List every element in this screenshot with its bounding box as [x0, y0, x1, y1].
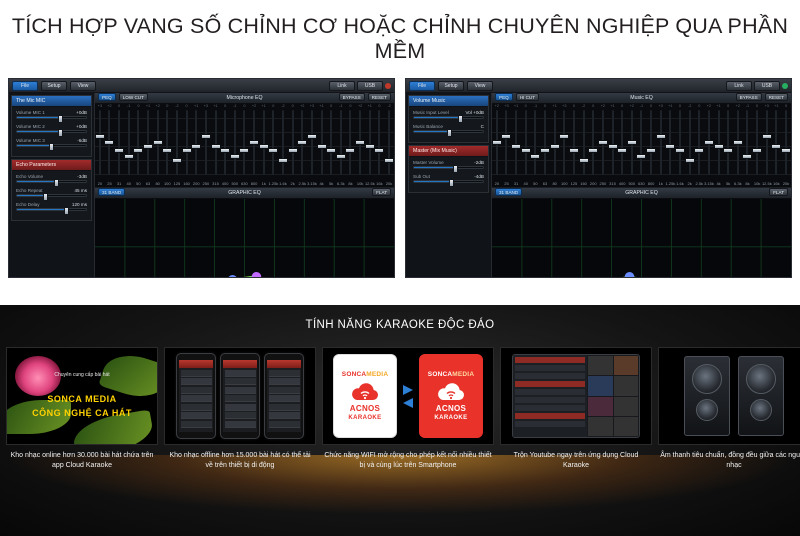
- eq-fader-freq: 1.6k: [278, 181, 288, 186]
- karaoke-feature-banner: TÍNH NĂNG KARAOKE ĐỘC ĐÁO Chuyên cung cấ…: [0, 305, 800, 536]
- section-music-title: Volume Music: [409, 96, 488, 107]
- section-mic: The Mic MIC Volume MIC 1 +0dB: [11, 95, 92, 157]
- eq-fader: +3250: [201, 104, 211, 187]
- toolbar-status-group: Link USB: [329, 81, 391, 91]
- eq-fader: -16.3k: [336, 104, 346, 187]
- transfer-arrows: [403, 385, 413, 408]
- eq-fader-freq: 80: [153, 181, 163, 186]
- eq-fader-freq: 5k: [326, 181, 336, 186]
- slider-mic-1[interactable]: Volume MIC 1 +0dB: [16, 110, 87, 119]
- eq-fader-freq: 1k: [656, 181, 666, 186]
- slider-echo-repeat-label: Echo Repeat: [16, 188, 43, 193]
- brand-songa-media: SONCAMEDIA: [342, 371, 388, 378]
- page-root: TÍCH HỢP VANG SỐ CHỈNH CƠ HOẶC CHỈNH CHU…: [0, 0, 800, 536]
- eq-fader: 05k: [326, 104, 336, 187]
- section-echo-title: Echo Parameters: [12, 160, 91, 171]
- brand-karaoke: KARAOKE: [434, 415, 467, 421]
- slider-master-volume-track[interactable]: [413, 166, 484, 169]
- mixer-window-right[interactable]: File Setup View Link USB Volume Music: [405, 78, 792, 278]
- eq-fader-gain: 0: [346, 104, 356, 108]
- eq-fader: 050: [134, 104, 144, 187]
- eq-fader: +225: [105, 104, 115, 187]
- eq-fader: +2800: [249, 104, 259, 187]
- eq-fader: -140: [124, 104, 134, 187]
- eq-fader: +116k: [772, 104, 782, 187]
- eq-fader-gain: 0: [375, 104, 385, 108]
- slider-mic-2-track[interactable]: [16, 130, 87, 133]
- eq-fader: +31k: [656, 104, 666, 187]
- eq-fader-gain: +3: [201, 104, 211, 108]
- eq-fader: 0400: [617, 104, 627, 187]
- eq-fader: +220: [492, 104, 502, 187]
- eq-fader-freq: 315: [211, 181, 221, 186]
- mixer-window-left[interactable]: File Setup View Link USB The Mic MIC: [8, 78, 395, 278]
- eq-fader-freq: 315: [608, 181, 618, 186]
- eq-fader: +3100: [559, 104, 569, 187]
- eq-fader-gain: 0: [781, 104, 791, 108]
- eq-fader: +2500: [627, 104, 637, 187]
- eq-fader-gain: 0: [240, 104, 250, 108]
- eq-fader-bank-right[interactable]: +220 +325 +131 040 -150 063 +180 +3100 0…: [492, 104, 791, 187]
- eq-response-curve-left[interactable]: [95, 199, 394, 278]
- arrow-right-icon: [403, 385, 413, 395]
- feature-card-caption: Kho nhạc offline hơn 15.000 bài hát có t…: [164, 451, 316, 471]
- eq-fader-freq: 12.5k: [365, 181, 375, 186]
- slider-mic-2[interactable]: Volume MIC 2 +0dB: [16, 124, 87, 133]
- eq-fader-gain: -1: [531, 104, 541, 108]
- slider-master-volume[interactable]: Master Volume -2dB: [413, 160, 484, 169]
- eq-fader: +280: [153, 104, 163, 187]
- band-header-title: GRAPHIC EQ: [492, 188, 791, 199]
- eq-fader: -1500: [230, 104, 240, 187]
- wifi-cloud-icon: [350, 380, 380, 402]
- eq-fader-gain: +2: [492, 104, 502, 108]
- eq-fader-freq: 20: [95, 181, 105, 186]
- slider-echo-volume-track[interactable]: [16, 180, 87, 183]
- eq-fader-gain: -1: [743, 104, 753, 108]
- eq-fader: -2160: [579, 104, 589, 187]
- eq-fader: 0100: [162, 104, 172, 187]
- eq-fader: 040: [521, 104, 531, 187]
- phone-device: [176, 353, 216, 439]
- eq-fader: 0200: [588, 104, 598, 187]
- eq-fader-gain: +3: [762, 104, 772, 108]
- eq-fader-freq: 6.3k: [336, 181, 346, 186]
- eq-fader: +23.15k: [704, 104, 714, 187]
- eq-fader: -220k: [384, 104, 394, 187]
- menu-view-button[interactable]: View: [70, 81, 96, 91]
- slider-mic-3-track[interactable]: [16, 144, 87, 147]
- eq-fader: +325: [502, 104, 512, 187]
- eq-fader-gain: +1: [714, 104, 724, 108]
- app-tile-white: SONCAMEDIA ACNOS KARAOKE: [333, 354, 397, 438]
- feature-card-caption: Trộn Youtube ngay trên ứng dụng Cloud Ka…: [500, 451, 652, 471]
- slider-echo-delay-value: 120 ms: [72, 202, 87, 207]
- feature-card-caption: Âm thanh tiêu chuẩn, đồng đều giữa các n…: [658, 451, 800, 471]
- eq-fader-gain: +2: [355, 104, 365, 108]
- eq-fader: -2125: [172, 104, 182, 187]
- menu-view-button[interactable]: View: [467, 81, 493, 91]
- section-echo: Echo Parameters Echo Volume -3dB: [11, 159, 92, 221]
- eq-fader-gain: 0: [220, 104, 230, 108]
- eq-fader-freq: 200: [588, 181, 598, 186]
- eq-fader-gain: -1: [124, 104, 134, 108]
- eq-fader-freq: 63: [540, 181, 550, 186]
- menu-setup-button[interactable]: Setup: [438, 81, 464, 91]
- chip-bypass[interactable]: BYPASS: [339, 93, 365, 101]
- eq-fader-freq: 500: [627, 181, 637, 186]
- section-music-body: Music Input Level Vol +0dB Music Balance…: [409, 107, 488, 142]
- eq-fader-freq: 2.5k: [297, 181, 307, 186]
- slider-sub-out-label: Sub Out: [413, 174, 430, 179]
- eq-fader-freq: 20k: [781, 181, 791, 186]
- menu-file-button[interactable]: File: [409, 81, 435, 91]
- eq-fader-gain: +1: [550, 104, 560, 108]
- slider-music-input-track[interactable]: [413, 116, 484, 119]
- eq-fader-gain: 0: [569, 104, 579, 108]
- slider-mic-1-track[interactable]: [16, 116, 87, 119]
- eq-fader-freq: 160: [579, 181, 589, 186]
- eq-fader-gain: 0: [588, 104, 598, 108]
- chip-reset[interactable]: RESET: [368, 93, 391, 101]
- eq-fader: +163: [143, 104, 153, 187]
- chip-bypass[interactable]: BYPASS: [736, 93, 762, 101]
- feature-card-online-library: Chuyên cung cấp bài hát SONCA MEDIA CÔNG…: [6, 347, 158, 471]
- eq-fader-freq: 1k: [259, 181, 269, 186]
- eq-fader-freq: 31: [511, 181, 521, 186]
- section-master-title: Master (Mix Music): [409, 146, 488, 157]
- eq-fader-freq: 5k: [723, 181, 733, 186]
- eq-fader-freq: 50: [134, 181, 144, 186]
- eq-fader: +210k: [355, 104, 365, 187]
- section-mic-title: The Mic MIC: [12, 96, 91, 107]
- slider-echo-delay-track[interactable]: [16, 208, 87, 211]
- eq-fader-freq: 16k: [375, 181, 385, 186]
- eq-fader-freq: 160: [182, 181, 192, 186]
- eq-fader-freq: 250: [201, 181, 211, 186]
- speaker-left-icon: [684, 356, 730, 436]
- slider-sub-out-track[interactable]: [413, 180, 484, 183]
- eq-fader-gain: +3: [95, 104, 105, 108]
- section-echo-body: Echo Volume -3dB Echo Repeat 45 ms: [12, 171, 91, 220]
- slider-master-volume-label: Master Volume: [413, 160, 444, 165]
- slider-music-balance-track[interactable]: [413, 130, 484, 133]
- eq-fader-freq: 125: [172, 181, 182, 186]
- eq-fader: 0125: [569, 104, 579, 187]
- poster-line-1: SONCA MEDIA: [7, 394, 157, 404]
- eq-fader-freq: 10k: [355, 181, 365, 186]
- eq-fader-gain: 0: [114, 104, 124, 108]
- menu-file-button[interactable]: File: [12, 81, 38, 91]
- slider-mic-1-label: Volume MIC 1: [16, 110, 45, 115]
- eq-fader-freq: 25: [105, 181, 115, 186]
- eq-fader-freq: 20k: [384, 181, 394, 186]
- eq-fader-freq: 250: [598, 181, 608, 186]
- eq-fader-bank-left[interactable]: +320 +225 031 -140 050 +163 +280 0100 -2…: [95, 104, 394, 187]
- three-phones-art: [164, 347, 316, 445]
- eq-fader: 02k: [288, 104, 298, 187]
- eq-fader-freq: 1.25k: [666, 181, 676, 186]
- eq-fader: 016k: [375, 104, 385, 187]
- eq-fader-freq: 4k: [317, 181, 327, 186]
- eq-fader: +11k: [259, 104, 269, 187]
- eq-fader-gain: -1: [230, 104, 240, 108]
- brand-songa-text: SONCA: [428, 371, 452, 378]
- eq-fader-freq: 80: [550, 181, 560, 186]
- slider-mic-3[interactable]: Volume MIC 3 -6dB: [16, 138, 87, 147]
- slider-echo-delay[interactable]: Echo Delay 120 ms: [16, 202, 87, 211]
- eq-fader-gain: -2: [685, 104, 695, 108]
- eq-fader-freq: 100: [162, 181, 172, 186]
- eq-fader-gain: +2: [105, 104, 115, 108]
- eq-fader-freq: 3.15k: [307, 181, 317, 186]
- speaker-pair-art: [658, 347, 800, 445]
- eq-fader-freq: 8k: [743, 181, 753, 186]
- slider-music-input-value: Vol +0dB: [465, 110, 484, 115]
- eq-fader-freq: 2k: [685, 181, 695, 186]
- brand-media-text: MEDIA: [366, 371, 388, 378]
- slider-mic-2-label: Volume MIC 2: [16, 124, 45, 129]
- eq-fader-freq: 20: [492, 181, 502, 186]
- section-master: Master (Mix Music) Master Volume -2dB: [408, 145, 489, 193]
- section-music: Volume Music Music Input Level Vol +0dB: [408, 95, 489, 143]
- slider-sub-out[interactable]: Sub Out -4dB: [413, 174, 484, 183]
- graphic-eq-faders-right[interactable]: +220 +325 +131 040 -150 063 +180 +3100 0…: [492, 104, 791, 188]
- eq-fader: +131: [511, 104, 521, 187]
- eq-fader: 0160: [182, 104, 192, 187]
- eq-fader: +33.15k: [307, 104, 317, 187]
- eq-fader-freq: 100: [559, 181, 569, 186]
- eq-fader-gain: +1: [666, 104, 676, 108]
- wifi-cloud-icon: [436, 380, 466, 402]
- eq-fader-gain: 0: [617, 104, 627, 108]
- eq-fader: 063: [540, 104, 550, 187]
- eq-fader-freq: 40: [124, 181, 134, 186]
- eq-fader-gain: +1: [211, 104, 221, 108]
- eq-fader-gain: -2: [172, 104, 182, 108]
- eq-fader: -18k: [743, 104, 753, 187]
- eq-fader-freq: 400: [220, 181, 230, 186]
- eq-fader-freq: 1.6k: [675, 181, 685, 186]
- usb-status-label[interactable]: USB: [357, 81, 383, 91]
- eq-fader-gain: -1: [336, 104, 346, 108]
- feature-card-speakers: Âm thanh tiêu chuẩn, đồng đều giữa các n…: [658, 347, 800, 471]
- eq-fader-freq: 40: [521, 181, 531, 186]
- slider-echo-repeat[interactable]: Echo Repeat 45 ms: [16, 188, 87, 197]
- eq-fader-freq: 1.25k: [269, 181, 279, 186]
- eq-fader-freq: 630: [240, 181, 250, 186]
- eq-fader-gain: +3: [307, 104, 317, 108]
- eq-fader: +2250: [598, 104, 608, 187]
- mixer-right-toolbar[interactable]: File Setup View Link USB: [406, 79, 791, 93]
- feature-card-caption: Kho nhạc online hơn 30.000 bài hát chứa …: [6, 451, 158, 471]
- slider-echo-repeat-value: 45 ms: [74, 188, 87, 193]
- eq-fader-gain: 0: [694, 104, 704, 108]
- eq-fader-gain: -1: [637, 104, 647, 108]
- playlist-pane: [513, 355, 587, 437]
- brand-media-text: MEDIA: [452, 371, 474, 378]
- slider-music-balance-value: C: [481, 124, 484, 129]
- brand-songa-text: SONCA: [342, 371, 366, 378]
- eq-fader-gain: 0: [182, 104, 192, 108]
- status-dot-red-icon: [385, 83, 391, 89]
- slider-sub-out-value: -4dB: [474, 174, 484, 179]
- band-header-peq-left: PEQ LOW CUT Microphone EQ BYPASS RESET: [95, 93, 394, 104]
- eq-response-curve-right[interactable]: [492, 199, 791, 278]
- eq-fader-freq: 3.15k: [704, 181, 714, 186]
- eq-fader: +320: [95, 104, 105, 187]
- chip-flat[interactable]: FLAT: [372, 188, 391, 196]
- speaker-right-icon: [738, 356, 784, 436]
- eq-fader: +312.5k: [762, 104, 772, 187]
- eq-fader-gain: +2: [249, 104, 259, 108]
- eq-fader-gain: +3: [559, 104, 569, 108]
- band-header-peq-right: PEQ HI CUT Music EQ BYPASS RESET: [492, 93, 791, 104]
- slider-echo-volume-label: Echo Volume: [16, 174, 43, 179]
- chip-reset[interactable]: RESET: [765, 93, 788, 101]
- eq-fader: 0630: [240, 104, 250, 187]
- eq-fader-freq: 800: [249, 181, 259, 186]
- eq-fader-gain: -2: [278, 104, 288, 108]
- eq-fader-gain: +1: [772, 104, 782, 108]
- mixer-panels-row: File Setup View Link USB The Mic MIC: [8, 78, 792, 278]
- eq-curve-svg: [95, 199, 394, 278]
- mixer-left-main: PEQ LOW CUT Microphone EQ BYPASS RESET: [95, 93, 394, 277]
- graphic-eq-faders-left[interactable]: +320 +225 031 -140 050 +163 +280 0100 -2…: [95, 104, 394, 188]
- eq-fader: 010k: [752, 104, 762, 187]
- eq-fader: -21.6k: [278, 104, 288, 187]
- brand-acnos: ACNOS: [350, 404, 380, 413]
- eq-fader-gain: +1: [608, 104, 618, 108]
- feature-card-offline-library: Kho nhạc offline hơn 15.000 bài hát có t…: [164, 347, 316, 471]
- band-header-title: GRAPHIC EQ: [95, 188, 394, 199]
- eq-fader-freq: 630: [637, 181, 647, 186]
- brand-acnos: ACNOS: [436, 404, 466, 413]
- eq-fader: -22k: [685, 104, 695, 187]
- eq-fader: +112.5k: [365, 104, 375, 187]
- slider-music-input-level[interactable]: Music Input Level Vol +0dB: [413, 110, 484, 119]
- eq-fader: +180: [550, 104, 560, 187]
- eq-fader: 08k: [346, 104, 356, 187]
- eq-fader-gain: 0: [288, 104, 298, 108]
- eq-fader-freq: 50: [531, 181, 541, 186]
- arrow-left-icon: [403, 398, 413, 408]
- eq-fader-gain: 0: [675, 104, 685, 108]
- eq-fader: +26.3k: [733, 104, 743, 187]
- slider-music-input-label: Music Input Level: [413, 110, 449, 115]
- poster-top-line: Chuyên cung cấp bài hát: [7, 372, 157, 378]
- slider-music-balance[interactable]: Music Balance C: [413, 124, 484, 133]
- eq-fader-freq: 16k: [772, 181, 782, 186]
- tablet-playlist-art: [500, 347, 652, 445]
- eq-fader-gain: 0: [521, 104, 531, 108]
- menu-setup-button[interactable]: Setup: [41, 81, 67, 91]
- eq-fader: 01.6k: [675, 104, 685, 187]
- mixer-right-sidebar: Volume Music Music Input Level Vol +0dB: [406, 93, 492, 277]
- slider-echo-volume[interactable]: Echo Volume -3dB: [16, 174, 87, 183]
- eq-fader-gain: +1: [511, 104, 521, 108]
- feature-card-list: Chuyên cung cấp bài hát SONCA MEDIA CÔNG…: [6, 347, 794, 527]
- eq-fader-gain: 0: [326, 104, 336, 108]
- eq-fader-gain: 0: [134, 104, 144, 108]
- eq-fader-gain: 0: [162, 104, 172, 108]
- eq-fader: +1315: [608, 104, 618, 187]
- eq-fader-gain: +2: [153, 104, 163, 108]
- eq-fader: +1315: [211, 104, 221, 187]
- slider-mic-3-label: Volume MIC 3: [16, 138, 45, 143]
- phone-device: [220, 353, 260, 439]
- poster-line-2: CÔNG NGHỆ CA HÁT: [7, 408, 157, 418]
- feature-card-wifi: SONCAMEDIA ACNOS KARAOKE: [322, 347, 494, 471]
- eq-fader: 0800: [646, 104, 656, 187]
- eq-fader-gain: 0: [646, 104, 656, 108]
- slider-mic-3-value: -6dB: [77, 138, 87, 143]
- link-status-label[interactable]: Link: [726, 81, 752, 91]
- eq-fader-freq: 500: [230, 181, 240, 186]
- slider-music-balance-label: Music Balance: [413, 124, 443, 129]
- eq-fader-freq: 2.5k: [694, 181, 704, 186]
- app-tile-red: SONCAMEDIA ACNOS KARAOKE: [419, 354, 483, 438]
- slider-echo-delay-label: Echo Delay: [16, 202, 40, 207]
- usb-status-label[interactable]: USB: [754, 81, 780, 91]
- eq-fader-gain: +2: [297, 104, 307, 108]
- slider-mic-1-value: +0dB: [76, 110, 87, 115]
- eq-fader-gain: +2: [598, 104, 608, 108]
- eq-fader-freq: 12.5k: [762, 181, 772, 186]
- eq-fader: +22.5k: [297, 104, 307, 187]
- band-header-graphic-right: 31 BAND GRAPHIC EQ FLAT: [492, 188, 791, 199]
- page-title: TÍCH HỢP VANG SỐ CHỈNH CƠ HOẶC CHỈNH CHU…: [0, 14, 800, 64]
- eq-fader-freq: 25: [502, 181, 512, 186]
- eq-fader: 020k: [781, 104, 791, 187]
- eq-fader: 02.5k: [694, 104, 704, 187]
- eq-fader: +14k: [317, 104, 327, 187]
- eq-fader-freq: 6.3k: [733, 181, 743, 186]
- video-thumbnail-grid: [587, 355, 639, 437]
- eq-fader: +1200: [191, 104, 201, 187]
- eq-fader-gain: 0: [752, 104, 762, 108]
- mixer-left-toolbar[interactable]: File Setup View Link USB: [9, 79, 394, 93]
- eq-fader-gain: +1: [143, 104, 153, 108]
- eq-fader-gain: +3: [502, 104, 512, 108]
- eq-fader: +14k: [714, 104, 724, 187]
- eq-fader: -1630: [637, 104, 647, 187]
- eq-fader-gain: +3: [656, 104, 666, 108]
- eq-fader: 01.25k: [269, 104, 279, 187]
- eq-fader-freq: 8k: [346, 181, 356, 186]
- eq-fader-gain: +2: [704, 104, 714, 108]
- phone-device: [264, 353, 304, 439]
- eq-fader: -150: [531, 104, 541, 187]
- slider-mic-2-value: +0dB: [76, 124, 87, 129]
- eq-fader: 031: [114, 104, 124, 187]
- poster-floral-art: Chuyên cung cấp bài hát SONCA MEDIA CÔNG…: [6, 347, 158, 445]
- chip-flat[interactable]: FLAT: [769, 188, 788, 196]
- eq-fader-freq: 800: [646, 181, 656, 186]
- status-dot-green-icon: [782, 83, 788, 89]
- eq-fader-freq: 63: [143, 181, 153, 186]
- eq-fader-gain: 0: [540, 104, 550, 108]
- feature-card-youtube-mix: Trộn Youtube ngay trên ứng dụng Cloud Ka…: [500, 347, 652, 471]
- mixer-left-sidebar: The Mic MIC Volume MIC 1 +0dB: [9, 93, 95, 277]
- slider-echo-repeat-track[interactable]: [16, 194, 87, 197]
- link-status-label[interactable]: Link: [329, 81, 355, 91]
- feature-card-caption: Chức năng WIFI mở rộng cho phép kết nối …: [322, 451, 494, 471]
- brand-songa-media: SONCAMEDIA: [428, 371, 474, 378]
- eq-fader-gain: +1: [191, 104, 201, 108]
- eq-fader-gain: -2: [384, 104, 394, 108]
- eq-fader-gain: 0: [723, 104, 733, 108]
